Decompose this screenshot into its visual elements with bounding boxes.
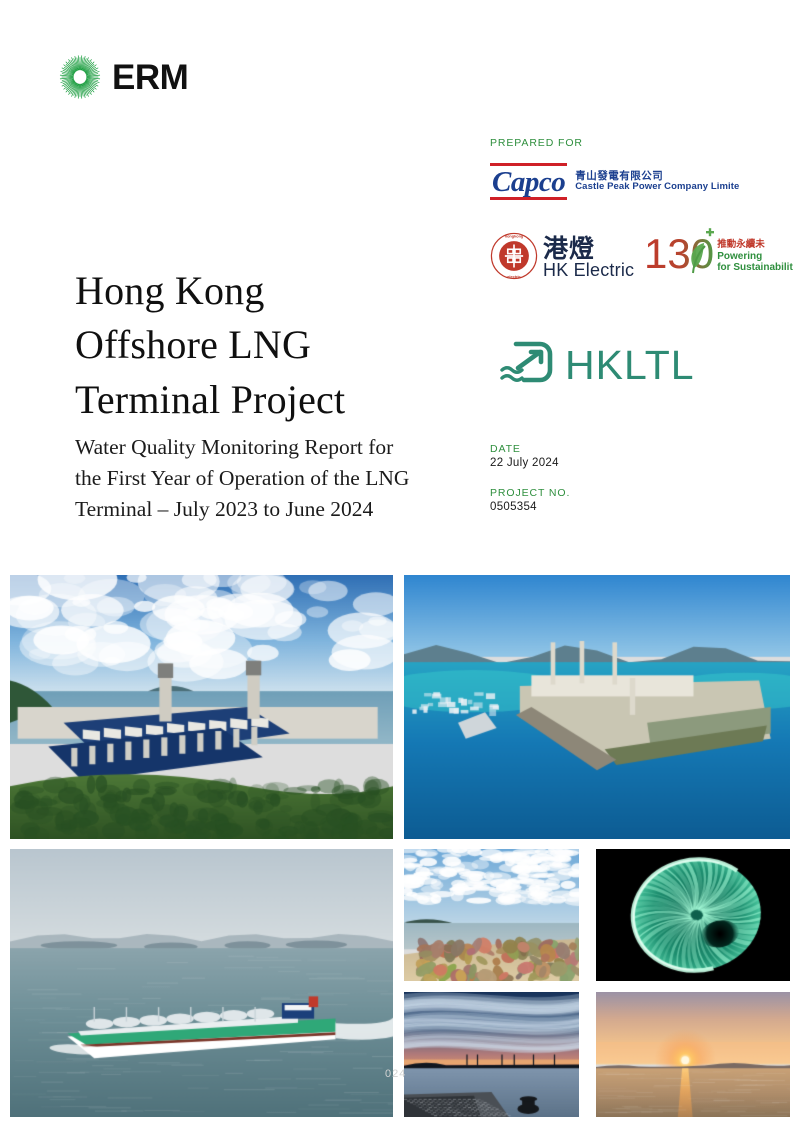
anniversary-tagline-line2: for Sustainabilit [717,262,793,273]
photo-bioluminescent-specimen [596,849,790,981]
prepared-for-block: PREPARED FOR Capco 青山發電有限公司 Castle Peak … [490,137,790,200]
photo-island-terminal-aerial [404,575,790,839]
photo-lng-carrier-vessel [10,849,393,1117]
page-watermark: 024 [385,1068,406,1080]
project-no-group: PROJECT NO. 0505354 [490,487,570,513]
photo-power-station-aerial [10,575,393,839]
photo-harbour-dusk [404,992,579,1117]
prepared-for-label: PREPARED FOR [490,137,790,149]
anniversary-130-icon: 130 [644,228,714,285]
subtitle-line-3: Terminal – July 2023 to June 2024 [75,494,475,525]
svg-text:hongkong: hongkong [505,234,524,238]
date-group: DATE 22 July 2024 [490,443,570,469]
anniversary-tagline-line1: Powering [717,251,793,262]
hk-electric-name-text: 港燈 HK Electric [543,236,634,281]
anniversary-tagline: 推動永續未 Powering for Sustainabilit [717,240,793,273]
capco-english-name: Castle Peak Power Company Limite [575,182,739,193]
erm-wordmark: ERM [112,60,188,95]
hk-electric-english-name: HK Electric [543,261,634,281]
hk-electric-130-anniversary-logo: 130 推動永續未 Powering for Sustainabilit [644,228,793,285]
capco-wordmark-group: Capco [490,163,567,200]
project-no-label: PROJECT NO. [490,487,570,499]
project-no-value: 0505354 [490,501,570,513]
anniversary-chinese-tagline: 推動永續未 [717,240,793,251]
hk-electric-chinese-name: 港燈 [543,236,634,261]
hkltl-logo: HKLTL [500,340,695,391]
cover-page: ERM PREPARED FOR Capco 青山發電有限公司 Castle P… [0,0,794,1123]
svg-text:130: 130 [644,230,714,277]
photo-sea-sunset [596,992,790,1117]
title-line-3: Terminal Project [75,373,475,427]
page-title: Hong Kong Offshore LNG Terminal Project [75,264,475,427]
subtitle-line-2: the First Year of Operation of the LNG [75,463,475,494]
title-line-2: Offshore LNG [75,318,475,372]
hk-electric-logo: hongkong electric 港燈 HK Electric [490,228,793,285]
capco-wordmark: Capco [490,166,567,197]
document-metadata: DATE 22 July 2024 PROJECT NO. 0505354 [490,443,570,513]
page-subtitle: Water Quality Monitoring Report for the … [75,432,475,525]
cover-photo-grid [10,575,790,1120]
capco-name-text: 青山發電有限公司 Castle Peak Power Company Limit… [575,170,739,193]
erm-logo: ERM [57,53,188,101]
hkltl-wordmark: HKLTL [565,345,695,386]
date-value: 22 July 2024 [490,457,570,469]
photo-coastal-beach [404,849,579,981]
title-line-1: Hong Kong [75,264,475,318]
hk-electric-seal-icon: hongkong electric [490,232,538,285]
hk-electric-primary: hongkong electric 港燈 HK Electric [490,232,634,285]
capco-logo: Capco 青山發電有限公司 Castle Peak Power Company… [490,163,790,200]
erm-sunburst-icon [57,53,103,101]
subtitle-line-1: Water Quality Monitoring Report for [75,432,475,463]
date-label: DATE [490,443,570,455]
hkltl-wave-arrow-icon [500,340,554,391]
svg-text:electric: electric [507,275,521,279]
